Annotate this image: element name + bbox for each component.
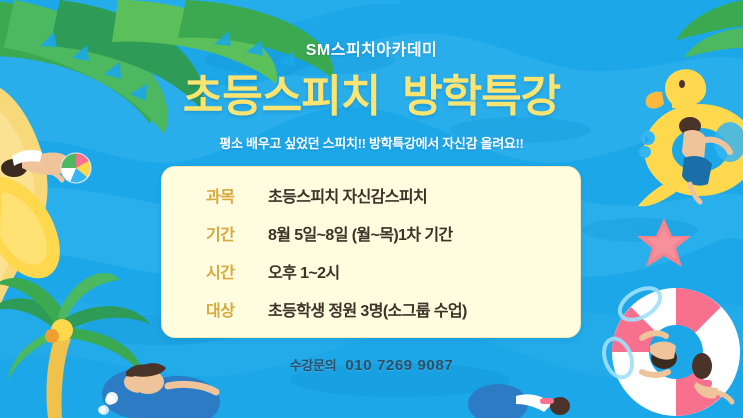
info-row-subject: 과목 초등스피치 자신감스피치 [206,183,580,216]
info-label-period: 기간 [206,221,268,245]
contact-label: 수강문의 [290,358,337,373]
brand-name: SM스피치아카데미 [0,36,743,60]
info-value-subject: 초등스피치 자신감스피치 [268,183,427,207]
tagline: 평소 배우고 싶었던 스피치!! 방학특강에서 자신감 올려요!! [0,133,743,152]
info-value-period: 8월 5일~8일 (월~목)1차 기간 [268,221,453,245]
info-row-period: 기간 8월 5일~8일 (월~목)1차 기간 [206,221,580,254]
promo-poster: SM스피치아카데미 초등스피치방학특강 평소 배우고 싶었던 스피치!! 방학특… [0,0,743,418]
page-title: 초등스피치방학특강 [0,60,743,124]
headline-part-1: 초등스피치 [183,72,380,121]
info-label-target: 대상 [206,297,268,321]
info-row-time: 시간 오후 1~2시 [206,259,580,292]
info-row-target: 대상 초등학생 정원 3명(소그룹 수업) [206,297,580,330]
headline-part-2: 방학특강 [402,72,560,121]
info-label-subject: 과목 [206,183,268,207]
info-rows: 과목 초등스피치 자신감스피치 기간 8월 5일~8일 (월~목)1차 기간 시… [162,183,580,330]
info-card: 과목 초등스피치 자신감스피치 기간 8월 5일~8일 (월~목)1차 기간 시… [161,166,581,338]
contact-footer: 수강문의010 7269 9087 [0,355,743,375]
info-label-time: 시간 [206,259,268,283]
info-value-time: 오후 1~2시 [268,259,340,283]
info-value-target: 초등학생 정원 3명(소그룹 수업) [268,297,467,321]
contact-phone-number[interactable]: 010 7269 9087 [345,357,453,374]
